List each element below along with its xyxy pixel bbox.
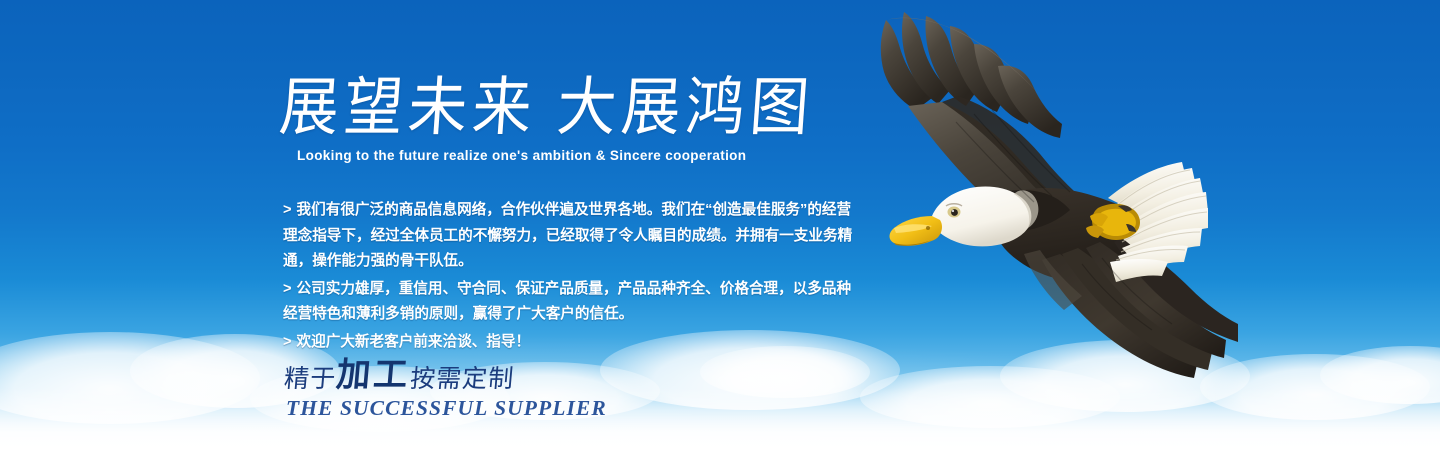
slogan-emphasis: 加工: [335, 355, 412, 395]
page-title: 展望未来大展鸿图: [277, 74, 816, 142]
slogan-prefix: 精于: [283, 364, 338, 393]
hero-banner: 展望未来大展鸿图 Looking to the future realize o…: [0, 0, 1440, 450]
slogan-suffix: 按需定制: [409, 364, 516, 393]
list-item: >欢迎广大新老客户前来洽谈、指导！: [283, 330, 855, 356]
banner-text-content: 展望未来大展鸿图 Looking to the future realize o…: [0, 0, 880, 450]
bullet-marker-icon: >: [283, 334, 292, 350]
bullet-list: >我们有很广泛的商品信息网络，合作伙伴遍及世界各地。我们在“创造最佳服务”的经营…: [283, 198, 855, 355]
list-item: >我们有很广泛的商品信息网络，合作伙伴遍及世界各地。我们在“创造最佳服务”的经营…: [283, 198, 855, 275]
page-subtitle: Looking to the future realize one's ambi…: [297, 148, 746, 163]
slogan-chinese: 精于加工按需定制: [283, 358, 610, 392]
headline-part-1: 展望未来: [277, 70, 539, 145]
bullet-text: 我们有很广泛的商品信息网络，合作伙伴遍及世界各地。我们在“创造最佳服务”的经营理…: [283, 202, 852, 269]
bullet-marker-icon: >: [283, 202, 292, 218]
list-item: >公司实力雄厚，重信用、守合同、保证产品质量，产品品种齐全、价格合理，以多品种经…: [283, 277, 855, 328]
bullet-text: 欢迎广大新老客户前来洽谈、指导！: [297, 334, 531, 350]
eagle-head: [890, 186, 1039, 246]
bullet-text: 公司实力雄厚，重信用、守合同、保证产品质量，产品品种齐全、价格合理，以多品种经营…: [283, 281, 851, 323]
bald-eagle-image: [846, 2, 1266, 394]
headline-part-2: 大展鸿图: [555, 70, 817, 145]
slogan-block: 精于加工按需定制 THE SUCCESSFUL SUPPLIER: [283, 358, 607, 421]
bullet-marker-icon: >: [283, 281, 292, 297]
slogan-english: THE SUCCESSFUL SUPPLIER: [286, 396, 607, 421]
